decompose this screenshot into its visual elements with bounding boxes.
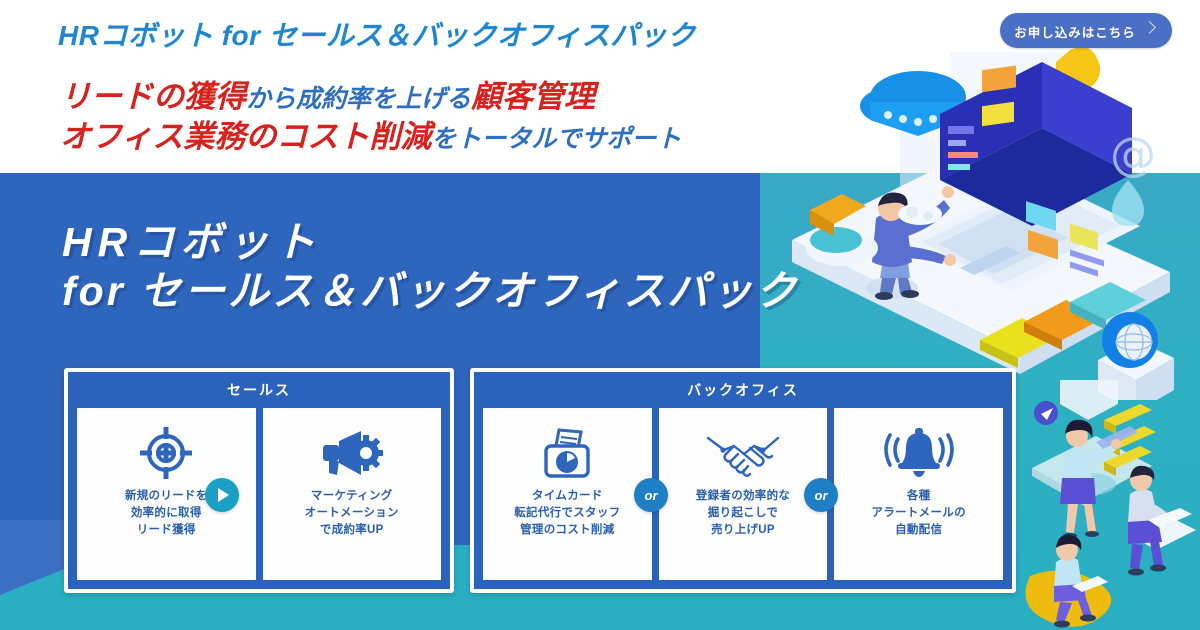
card-text-line: 売り上げUP [696, 522, 790, 539]
person-laptop [1128, 466, 1196, 576]
hero-title: HRコボット for セールス＆バックオフィスパック [62, 218, 799, 316]
card-text-line: 各種 [871, 488, 965, 505]
panel-backoffice-cards: タイムカード 転記代行でスタッフ 管理のコスト削減 [483, 408, 1003, 580]
panel-sales: セールス 新規のリードを 効 [64, 368, 454, 593]
tagline-red-b: 顧客管理 [471, 79, 595, 114]
bell-alert-icon [884, 422, 954, 484]
card-text-line: タイムカード [514, 488, 620, 505]
panel-sales-cards: 新規のリードを 効率的に取得 リード獲得 [77, 408, 441, 580]
svg-text:@: @ [1110, 127, 1156, 181]
handshake-icon [704, 422, 782, 484]
landing-page: @ [0, 0, 1200, 630]
person-beanbag [1026, 535, 1112, 628]
card-text-line: 掘り起こしで [696, 505, 790, 522]
card-text-line: で成約率UP [305, 522, 399, 539]
or-badge-1: or [634, 478, 668, 512]
apply-button[interactable]: お申し込みはこちら [1000, 13, 1172, 48]
timecard-clock-icon [539, 422, 595, 484]
tagline-line-2: オフィス業務のコスト削減をトータルでサポート [60, 118, 800, 158]
megaphone-gear-icon [321, 422, 383, 484]
tagline-blue-a: から成約率を上げる [246, 85, 471, 113]
card-marketing-automation[interactable]: マーケティング オートメーション で成約率UP [263, 408, 442, 580]
card-text-line: 管理のコスト削減 [514, 522, 620, 539]
card-text-line: 効率的に取得 [125, 505, 208, 522]
or-badge-label: or [645, 488, 658, 503]
tagline-red-a: リードの獲得 [60, 79, 246, 114]
play-icon [205, 478, 239, 512]
tagline-blue-b: をトータルでサポート [431, 125, 681, 153]
panel-backoffice-title: バックオフィス [474, 380, 1012, 400]
target-icon [138, 422, 194, 484]
card-text-line: オートメーション [305, 505, 399, 522]
apply-button-label: お申し込みはこちら [1000, 22, 1150, 41]
tagline: リードの獲得から成約率を上げる顧客管理 オフィス業務のコスト削減をトータルでサポ… [60, 78, 800, 158]
card-text-line: マーケティング [305, 488, 399, 505]
card-timecard-text: タイムカード 転記代行でスタッフ 管理のコスト削減 [514, 488, 620, 539]
hero-title-line-2: for セールス＆バックオフィスパック [62, 266, 799, 316]
card-alert-mail-text: 各種 アラートメールの 自動配信 [871, 488, 965, 539]
or-badge-label: or [815, 488, 828, 503]
play-triangle [218, 488, 229, 502]
panel-backoffice: バックオフィス [470, 368, 1016, 593]
card-handshake[interactable]: 登録者の効率的な 掘り起こしで 売り上げUP [659, 408, 828, 580]
card-marketing-automation-text: マーケティング オートメーション で成約率UP [305, 488, 399, 539]
site-header: HRコボット for セールス＆バックオフィスパック お申し込みはこちら [0, 0, 1200, 62]
or-badge-2: or [804, 478, 838, 512]
card-timecard[interactable]: タイムカード 転記代行でスタッフ 管理のコスト削減 [483, 408, 652, 580]
tagline-red-c: オフィス業務のコスト削減 [60, 119, 431, 154]
card-text-line: 新規のリードを [125, 488, 208, 505]
card-text-line: アラートメールの [871, 505, 965, 522]
card-text-line: 自動配信 [871, 522, 965, 539]
card-text-line: 転記代行でスタッフ [514, 505, 620, 522]
hero-title-line-1: HRコボット [62, 218, 799, 266]
panel-sales-title: セールス [68, 380, 450, 400]
card-lead-acquisition-text: 新規のリードを 効率的に取得 リード獲得 [125, 488, 208, 539]
people-illustration [1000, 380, 1200, 630]
card-handshake-text: 登録者の効率的な 掘り起こしで 売り上げUP [696, 488, 790, 539]
card-alert-mail[interactable]: 各種 アラートメールの 自動配信 [834, 408, 1003, 580]
tagline-line-1: リードの獲得から成約率を上げる顧客管理 [60, 78, 800, 118]
card-text-line: リード獲得 [125, 522, 208, 539]
site-logo[interactable]: HRコボット for セールス＆バックオフィスパック [58, 14, 696, 54]
hero-illustration: @ [770, 40, 1200, 400]
card-text-line: 登録者の効率的な [696, 488, 790, 505]
